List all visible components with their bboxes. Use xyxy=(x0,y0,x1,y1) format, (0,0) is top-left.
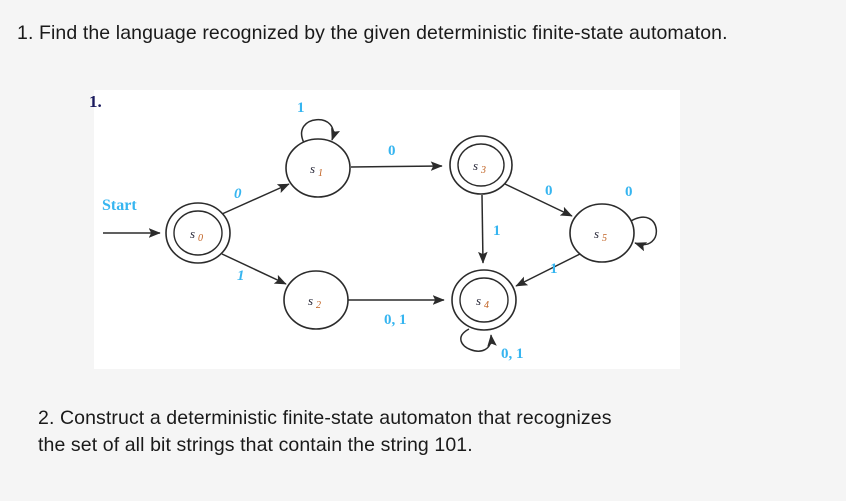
edge-label-s2-s4: 0, 1 xyxy=(384,312,407,328)
start-label: Start xyxy=(102,197,137,214)
state-node-s4: s 4 xyxy=(452,270,516,330)
automaton-diagram: Start 0 1 1 0 1 0 xyxy=(94,90,680,369)
transition-s0-s1: 0 xyxy=(222,184,289,214)
question-2-line-1: 2. Construct a deterministic finite-stat… xyxy=(38,407,612,429)
edge-label-s5-s4: 1 xyxy=(550,261,558,277)
edge-label-s1-s3: 0 xyxy=(388,143,396,159)
question-2-line-2: the set of all bit strings that contain … xyxy=(38,432,816,459)
state-sub-s2: 2 xyxy=(316,300,321,311)
transition-s0-s2: 1 xyxy=(222,254,286,284)
state-label-s0: s xyxy=(190,226,195,241)
transition-s2-s4: 0, 1 xyxy=(348,300,444,328)
state-node-s2: s 2 xyxy=(284,271,348,329)
state-label-s2: s xyxy=(308,293,313,308)
transition-s4-self: 0, 1 xyxy=(461,329,524,362)
state-node-s0: s 0 xyxy=(166,203,230,263)
transition-s5-s4: 1 xyxy=(516,254,580,286)
transition-s3-s5: 0 xyxy=(505,183,572,216)
state-sub-s5: 5 xyxy=(602,233,607,244)
state-sub-s0: 0 xyxy=(198,233,203,244)
automaton-figure-panel: 1. Start 0 1 1 0 xyxy=(94,90,680,369)
state-label-s5: s xyxy=(594,226,599,241)
state-label-s3: s xyxy=(473,158,478,173)
state-sub-s3: 3 xyxy=(480,165,486,176)
edge-label-s0-s2: 1 xyxy=(237,268,245,284)
state-label-s1: s xyxy=(310,161,315,176)
edge-label-s4-self: 0, 1 xyxy=(501,346,524,362)
state-sub-s1: 1 xyxy=(318,168,323,179)
question-2-text: 2. Construct a deterministic finite-stat… xyxy=(38,405,816,459)
state-node-s3: s 3 xyxy=(450,136,512,194)
edge-label-s3-s4: 1 xyxy=(493,223,501,239)
transition-s1-s3: 0 xyxy=(351,143,442,167)
edge-label-s1-self: 1 xyxy=(297,100,305,116)
state-node-s1: s 1 xyxy=(286,139,350,197)
edge-label-s3-s5: 0 xyxy=(545,183,553,199)
transition-start-to-s0: Start xyxy=(102,197,160,233)
state-node-s5: s 5 xyxy=(570,204,634,262)
edge-label-s5-self: 0 xyxy=(625,184,633,200)
state-sub-s4: 4 xyxy=(484,300,489,311)
state-label-s4: s xyxy=(476,293,481,308)
edge-label-s0-s1: 0 xyxy=(234,186,242,202)
transition-s3-s4: 1 xyxy=(482,195,501,263)
transition-s1-self: 1 xyxy=(297,100,333,143)
question-1-text: 1. Find the language recognized by the g… xyxy=(17,20,829,47)
